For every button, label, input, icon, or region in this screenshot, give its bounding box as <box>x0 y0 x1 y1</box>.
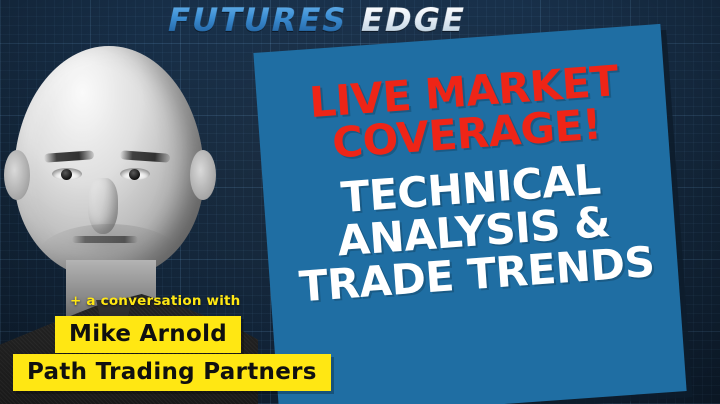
headline-red: LIVE MARKET COVERAGE! <box>272 59 659 169</box>
portrait-pupil-right <box>129 169 140 180</box>
portrait-pupil-left <box>61 169 72 180</box>
logo-word-futures: FUTURES <box>165 4 351 36</box>
conversation-intro-label: + a conversation with <box>70 293 241 309</box>
headline-white: TECHNICAL ANALYSIS & TRADE TRENDS <box>279 155 669 309</box>
headline-text-group: LIVE MARKET COVERAGE! TECHNICAL ANALYSIS… <box>253 24 686 404</box>
portrait-ear-right <box>190 150 216 200</box>
thumbnail-canvas: LIVE MARKET COVERAGE! TECHNICAL ANALYSIS… <box>0 0 720 404</box>
logo-word-edge: EDGE <box>358 4 469 36</box>
guest-company-badge: Path Trading Partners <box>13 354 331 391</box>
portrait-mouth <box>72 236 138 243</box>
portrait-ear-left <box>4 150 30 200</box>
futures-edge-logo: FUTURES EDGE <box>168 2 466 38</box>
guest-name-badge: Mike Arnold <box>55 316 241 353</box>
